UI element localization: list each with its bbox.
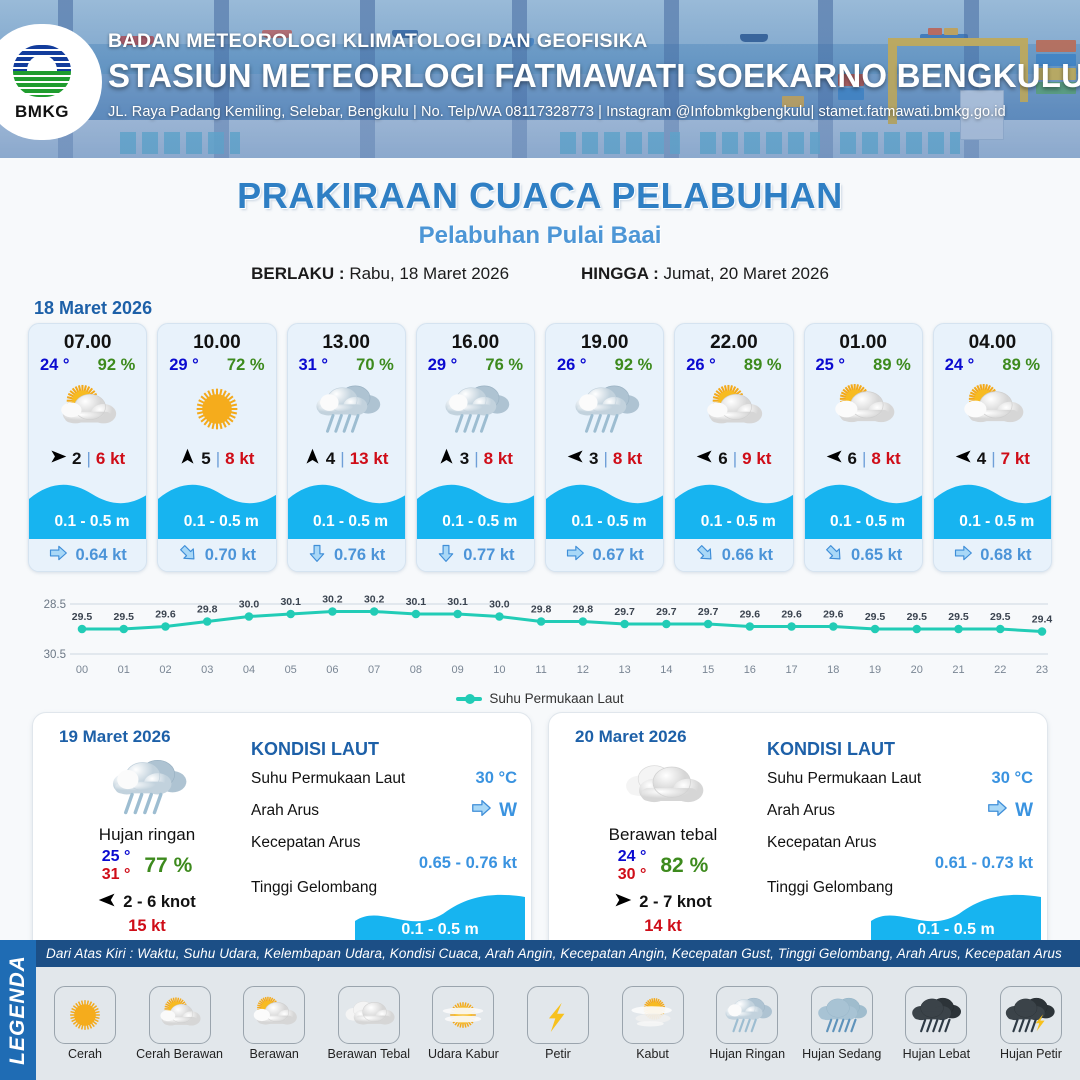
chart-legend-marker <box>456 697 482 701</box>
card-wave: 0.1 - 0.5 m <box>288 477 405 539</box>
legend-item: Udara Kabur <box>418 986 508 1061</box>
daily-date: 20 Maret 2026 <box>575 727 687 747</box>
sst-value: 30 °C <box>476 769 517 788</box>
berlaku-value: Rabu, 18 Maret 2026 <box>349 264 509 283</box>
card-wave: 0.1 - 0.5 m <box>29 477 146 539</box>
svg-text:20: 20 <box>911 664 923 676</box>
daily-wave-value: 0.1 - 0.5 m <box>871 921 1041 939</box>
card-wave-height: 0.1 - 0.5 m <box>675 513 793 531</box>
legend-items: Cerah Cerah Berawan Bera <box>36 967 1080 1080</box>
card-gust: 9 kt <box>742 449 771 469</box>
svg-text:05: 05 <box>285 664 297 676</box>
daily-wind: 2 - 6 knot <box>47 891 247 914</box>
hingga-block: HINGGA : Jumat, 20 Maret 2026 <box>581 264 829 284</box>
svg-text:17: 17 <box>785 664 797 676</box>
legend-item: Hujan Ringan <box>702 986 792 1061</box>
card-temperature: 31 ° <box>299 356 329 375</box>
card-wind: 6 | 8 kt <box>805 441 922 477</box>
current-direction-arrow-icon <box>470 797 492 824</box>
wind-direction-arrow-icon <box>50 448 67 470</box>
wind-direction-arrow-icon <box>179 448 196 470</box>
cerah-berawan-icon <box>29 377 146 441</box>
legend-item-label: Hujan Petir <box>986 1047 1076 1061</box>
svg-text:29.6: 29.6 <box>823 609 844 621</box>
card-temperature: 25 ° <box>816 356 846 375</box>
card-wave-height: 0.1 - 0.5 m <box>288 513 406 531</box>
card-temperature: 26 ° <box>686 356 716 375</box>
legend-item-label: Udara Kabur <box>418 1047 508 1061</box>
card-wind: 5 | 8 kt <box>158 441 275 477</box>
card-humidity: 92 % <box>615 356 653 375</box>
card-wind-speed: 4 <box>977 449 986 469</box>
svg-text:21: 21 <box>952 664 964 676</box>
svg-text:12: 12 <box>577 664 589 676</box>
daily-panels: 19 Maret 2026 Hujan ringan 2 <box>0 706 1080 958</box>
card-humidity: 89 % <box>873 356 911 375</box>
wind-direction-arrow-icon <box>438 448 455 470</box>
daily-condition: Berawan tebal <box>563 825 763 845</box>
wind-direction-arrow-icon <box>955 448 972 470</box>
card-humidity: 72 % <box>227 356 265 375</box>
card-time: 04.00 <box>934 324 1051 356</box>
card-gust: 8 kt <box>613 449 642 469</box>
card-separator: | <box>340 449 344 469</box>
bmkg-logo-mark <box>13 42 71 100</box>
card-gust: 8 kt <box>871 449 900 469</box>
card-temperature: 29 ° <box>428 356 458 375</box>
card-current: 0.67 kt <box>546 539 663 571</box>
current-direction-value: W <box>1015 800 1033 822</box>
legend-item: Hujan Sedang <box>797 986 887 1061</box>
wind-direction-arrow-icon <box>98 891 116 914</box>
card-temperature: 26 ° <box>557 356 587 375</box>
wind-direction-arrow-icon <box>567 448 584 470</box>
svg-text:29.5: 29.5 <box>114 611 135 623</box>
wind-direction-arrow-icon <box>696 448 713 470</box>
card-time: 16.00 <box>417 324 534 356</box>
berawan-tebal-icon <box>563 751 763 823</box>
forecast-card: 04.00 24 ° 89 % 4 | 7 kt <box>933 323 1052 572</box>
current-direction-arrow-icon <box>307 543 327 568</box>
berawan-icon <box>934 377 1051 441</box>
forecast-card: 22.00 26 ° 89 % 6 | 9 kt <box>674 323 793 572</box>
daily-date: 19 Maret 2026 <box>59 727 171 747</box>
card-wind-speed: 4 <box>326 449 335 469</box>
legend-item: Cerah <box>40 986 130 1061</box>
card-time: 19.00 <box>546 324 663 356</box>
hingga-label: HINGGA : <box>581 264 659 283</box>
sea-condition-title: KONDISI LAUT <box>251 739 517 760</box>
current-direction-label: Arah Arus <box>251 802 319 820</box>
svg-text:29.6: 29.6 <box>740 609 761 621</box>
hujan-ringan-icon <box>417 377 534 441</box>
station-name: STASIUN METEORLOGI FATMAWATI SOEKARNO BE… <box>108 57 1068 95</box>
legend-item-label: Berawan <box>229 1047 319 1061</box>
svg-text:16: 16 <box>744 664 756 676</box>
page-title: PRAKIRAAN CUACA PELABUHAN <box>0 175 1080 217</box>
card-wave: 0.1 - 0.5 m <box>158 477 275 539</box>
card-current-speed: 0.68 kt <box>980 546 1031 565</box>
wind-direction-arrow-icon <box>826 448 843 470</box>
svg-text:30.0: 30.0 <box>239 599 260 611</box>
svg-text:29.8: 29.8 <box>531 604 552 616</box>
card-current-speed: 0.76 kt <box>334 546 385 565</box>
svg-text:15: 15 <box>702 664 714 676</box>
legend-item-label: Berawan Tebal <box>324 1047 414 1061</box>
card-current: 0.65 kt <box>805 539 922 571</box>
daily-humidity: 82 % <box>660 854 708 878</box>
svg-text:03: 03 <box>201 664 213 676</box>
svg-text:28.5: 28.5 <box>44 599 66 611</box>
svg-text:09: 09 <box>452 664 464 676</box>
hujan-ringan-icon <box>716 986 778 1044</box>
current-direction-arrow-icon <box>436 543 456 568</box>
daily-temp-max: 30 ° <box>618 866 647 884</box>
petir-icon <box>527 986 589 1044</box>
daily-wind: 2 - 7 knot <box>563 891 763 914</box>
legend-item-label: Petir <box>513 1047 603 1061</box>
legend-item-label: Cerah <box>40 1047 130 1061</box>
card-current: 0.76 kt <box>288 539 405 571</box>
current-direction-arrow-icon <box>986 797 1008 824</box>
card-separator: | <box>991 449 995 469</box>
forecast-card: 19.00 26 ° 92 % 3 <box>545 323 664 572</box>
cerah-icon <box>54 986 116 1044</box>
wind-direction-arrow-icon <box>304 448 321 470</box>
card-current-speed: 0.66 kt <box>722 546 773 565</box>
svg-text:29.5: 29.5 <box>907 611 928 623</box>
daily-gust: 15 kt <box>47 917 247 936</box>
svg-text:11: 11 <box>535 664 546 676</box>
legend-item: Cerah Berawan <box>135 986 225 1061</box>
udara-kabur-icon <box>432 986 494 1044</box>
current-direction-value: W <box>499 800 517 822</box>
berawan-icon <box>805 377 922 441</box>
daily-temp-min: 25 ° <box>102 848 131 866</box>
current-direction-label: Arah Arus <box>767 802 835 820</box>
card-time: 07.00 <box>29 324 146 356</box>
current-speed-label: Kecepatan Arus <box>767 834 876 852</box>
card-gust: 7 kt <box>1001 449 1030 469</box>
daily-humidity: 77 % <box>144 854 192 878</box>
svg-text:29.7: 29.7 <box>614 606 635 618</box>
card-current-speed: 0.77 kt <box>463 546 514 565</box>
card-separator: | <box>87 449 91 469</box>
hujan-lebat-icon <box>905 986 967 1044</box>
card-wave-height: 0.1 - 0.5 m <box>158 513 276 531</box>
card-current: 0.70 kt <box>158 539 275 571</box>
svg-text:06: 06 <box>326 664 338 676</box>
forecast-card: 01.00 25 ° 89 % 6 | 8 kt <box>804 323 923 572</box>
page-header: BMKG BADAN METEOROLOGI KLIMATOLOGI DAN G… <box>0 0 1080 158</box>
card-wave-height: 0.1 - 0.5 m <box>934 513 1052 531</box>
hujan-sedang-icon <box>811 986 873 1044</box>
current-direction-arrow-icon <box>48 543 68 568</box>
svg-text:01: 01 <box>118 664 130 676</box>
forecast-card: 16.00 29 ° 76 % 3 <box>416 323 535 572</box>
svg-text:00: 00 <box>76 664 88 676</box>
sst-chart: 28.530.529.50029.50129.60229.80330.00430… <box>24 588 1056 688</box>
card-separator: | <box>216 449 220 469</box>
card-current-speed: 0.64 kt <box>75 546 126 565</box>
card-gust: 8 kt <box>484 449 513 469</box>
svg-text:19: 19 <box>869 664 881 676</box>
svg-text:29.5: 29.5 <box>72 611 93 623</box>
card-wave: 0.1 - 0.5 m <box>805 477 922 539</box>
sst-label: Suhu Permukaan Laut <box>251 770 405 788</box>
card-temperature: 24 ° <box>40 356 70 375</box>
hujan-ringan-icon <box>288 377 405 441</box>
card-wind-speed: 3 <box>460 449 469 469</box>
card-wind-speed: 6 <box>718 449 727 469</box>
legend-bar: LEGENDA Dari Atas Kiri : Waktu, Suhu Uda… <box>0 940 1080 1080</box>
sea-condition-title: KONDISI LAUT <box>767 739 1033 760</box>
svg-text:29.7: 29.7 <box>656 606 677 618</box>
forecast-card: 13.00 31 ° 70 % 4 <box>287 323 406 572</box>
wind-direction-arrow-icon <box>614 891 632 914</box>
card-wave: 0.1 - 0.5 m <box>675 477 792 539</box>
card-current: 0.66 kt <box>675 539 792 571</box>
card-wave-height: 0.1 - 0.5 m <box>29 513 147 531</box>
legend-item: Hujan Lebat <box>891 986 981 1061</box>
current-direction-arrow-icon <box>178 543 198 568</box>
legend-item-label: Hujan Ringan <box>702 1047 792 1061</box>
daily-wind-range: 2 - 7 knot <box>639 893 711 912</box>
svg-text:04: 04 <box>243 664 255 676</box>
svg-text:30.1: 30.1 <box>406 596 427 608</box>
legend-item-label: Kabut <box>608 1047 698 1061</box>
card-current: 0.64 kt <box>29 539 146 571</box>
legend-item: Kabut <box>608 986 698 1061</box>
card-humidity: 76 % <box>485 356 523 375</box>
forecast-card: 10.00 29 ° 72 % 5 | 8 kt 0.1 - 0.5 m 0.7 <box>157 323 276 572</box>
card-wave: 0.1 - 0.5 m <box>417 477 534 539</box>
svg-text:29.5: 29.5 <box>948 611 969 623</box>
card-separator: | <box>862 449 866 469</box>
daily-temp-min: 24 ° <box>618 848 647 866</box>
svg-text:29.8: 29.8 <box>197 604 218 616</box>
card-current-speed: 0.67 kt <box>592 546 643 565</box>
svg-text:10: 10 <box>493 664 505 676</box>
hujan-ringan-icon <box>546 377 663 441</box>
current-speed-value: 0.61 - 0.73 kt <box>767 854 1033 873</box>
daily-gust: 14 kt <box>563 917 763 936</box>
svg-text:02: 02 <box>159 664 171 676</box>
svg-text:30.2: 30.2 <box>322 594 343 606</box>
cerah-berawan-icon <box>675 377 792 441</box>
daily-wave-value: 0.1 - 0.5 m <box>355 921 525 939</box>
card-time: 10.00 <box>158 324 275 356</box>
daily-condition: Hujan ringan <box>47 825 247 845</box>
svg-text:23: 23 <box>1036 664 1048 676</box>
svg-text:29.5: 29.5 <box>990 611 1011 623</box>
forecast-date-label: 18 Maret 2026 <box>34 298 1080 319</box>
bmkg-logo-text: BMKG <box>15 102 69 122</box>
card-wind: 4 | 7 kt <box>934 441 1051 477</box>
svg-text:29.6: 29.6 <box>781 609 802 621</box>
daily-temp-max: 31 ° <box>102 866 131 884</box>
card-temperature: 29 ° <box>169 356 199 375</box>
card-wind-speed: 6 <box>848 449 857 469</box>
card-temperature: 24 ° <box>945 356 975 375</box>
card-wave-height: 0.1 - 0.5 m <box>805 513 923 531</box>
svg-text:30.1: 30.1 <box>447 596 468 608</box>
card-separator: | <box>474 449 478 469</box>
svg-text:30.2: 30.2 <box>364 594 385 606</box>
daily-forecast-panel: 19 Maret 2026 Hujan ringan 2 <box>32 712 532 958</box>
card-wave: 0.1 - 0.5 m <box>934 477 1051 539</box>
sst-value: 30 °C <box>992 769 1033 788</box>
card-wave-height: 0.1 - 0.5 m <box>417 513 535 531</box>
svg-text:13: 13 <box>618 664 630 676</box>
current-direction-arrow-icon <box>953 543 973 568</box>
card-wind: 2 | 6 kt <box>29 441 146 477</box>
svg-text:29.8: 29.8 <box>573 604 594 616</box>
card-gust: 6 kt <box>96 449 125 469</box>
card-separator: | <box>604 449 608 469</box>
chart-legend: Suhu Permukaan Laut <box>0 691 1080 706</box>
hujan-ringan-icon <box>47 751 247 823</box>
agency-name: BADAN METEOROLOGI KLIMATOLOGI DAN GEOFIS… <box>108 30 1068 53</box>
daily-forecast-panel: 20 Maret 2026 Berawan tebal 24 ° 30 ° <box>548 712 1048 958</box>
berawan-icon <box>243 986 305 1044</box>
current-direction-arrow-icon <box>824 543 844 568</box>
card-wind-speed: 3 <box>589 449 598 469</box>
svg-text:30.0: 30.0 <box>489 599 510 611</box>
card-current-speed: 0.70 kt <box>205 546 256 565</box>
card-wind: 4 | 13 kt <box>288 441 405 477</box>
card-separator: | <box>733 449 737 469</box>
legend-item: Berawan Tebal <box>324 986 414 1061</box>
hourly-forecast-cards: 07.00 24 ° 92 % 2 | 6 kt <box>0 323 1080 572</box>
validity-row: BERLAKU : Rabu, 18 Maret 2026 HINGGA : J… <box>0 264 1080 284</box>
legend-side-title: LEGENDA <box>0 940 36 1080</box>
svg-text:29.7: 29.7 <box>698 606 719 618</box>
cerah-berawan-icon <box>149 986 211 1044</box>
card-time: 13.00 <box>288 324 405 356</box>
card-humidity: 92 % <box>98 356 136 375</box>
current-direction-arrow-icon <box>695 543 715 568</box>
kabut-icon <box>622 986 684 1044</box>
svg-text:30.5: 30.5 <box>44 649 66 661</box>
svg-text:18: 18 <box>827 664 839 676</box>
daily-wind-range: 2 - 6 knot <box>123 893 195 912</box>
card-current-speed: 0.65 kt <box>851 546 902 565</box>
svg-text:14: 14 <box>660 664 672 676</box>
svg-text:22: 22 <box>994 664 1006 676</box>
card-gust: 13 kt <box>350 449 389 469</box>
card-wind-speed: 2 <box>72 449 81 469</box>
hingga-value: Jumat, 20 Maret 2026 <box>664 264 829 283</box>
current-speed-label: Kecepatan Arus <box>251 834 360 852</box>
card-humidity: 89 % <box>744 356 782 375</box>
card-time: 01.00 <box>805 324 922 356</box>
legend-item: Berawan <box>229 986 319 1061</box>
legend-note: Dari Atas Kiri : Waktu, Suhu Udara, Kele… <box>36 940 1080 967</box>
card-time: 22.00 <box>675 324 792 356</box>
page-subtitle: Pelabuhan Pulai Baai <box>0 222 1080 250</box>
forecast-card: 07.00 24 ° 92 % 2 | 6 kt <box>28 323 147 572</box>
svg-text:07: 07 <box>368 664 380 676</box>
hujan-petir-icon <box>1000 986 1062 1044</box>
chart-legend-label: Suhu Permukaan Laut <box>489 691 623 706</box>
cerah-icon <box>158 377 275 441</box>
berlaku-block: BERLAKU : Rabu, 18 Maret 2026 <box>251 264 509 284</box>
legend-item-label: Hujan Sedang <box>797 1047 887 1061</box>
sst-label: Suhu Permukaan Laut <box>767 770 921 788</box>
svg-text:29.4: 29.4 <box>1032 614 1053 626</box>
card-gust: 8 kt <box>225 449 254 469</box>
legend-item: Hujan Petir <box>986 986 1076 1061</box>
card-current: 0.68 kt <box>934 539 1051 571</box>
card-wind-speed: 5 <box>201 449 210 469</box>
card-wind: 6 | 9 kt <box>675 441 792 477</box>
svg-text:29.5: 29.5 <box>865 611 886 623</box>
card-wind: 3 | 8 kt <box>417 441 534 477</box>
current-speed-value: 0.65 - 0.76 kt <box>251 854 517 873</box>
current-direction-arrow-icon <box>565 543 585 568</box>
svg-text:30.1: 30.1 <box>280 596 301 608</box>
svg-text:08: 08 <box>410 664 422 676</box>
card-humidity: 89 % <box>1002 356 1040 375</box>
card-humidity: 70 % <box>356 356 394 375</box>
card-wind: 3 | 8 kt <box>546 441 663 477</box>
card-current: 0.77 kt <box>417 539 534 571</box>
berlaku-label: BERLAKU : <box>251 264 345 283</box>
contact-info: JL. Raya Padang Kemiling, Selebar, Bengk… <box>108 104 1068 120</box>
card-wave: 0.1 - 0.5 m <box>546 477 663 539</box>
svg-text:29.6: 29.6 <box>155 609 176 621</box>
card-wave-height: 0.1 - 0.5 m <box>546 513 664 531</box>
legend-item: Petir <box>513 986 603 1061</box>
legend-item-label: Cerah Berawan <box>135 1047 225 1061</box>
legend-item-label: Hujan Lebat <box>891 1047 981 1061</box>
berawan-tebal-icon <box>338 986 400 1044</box>
